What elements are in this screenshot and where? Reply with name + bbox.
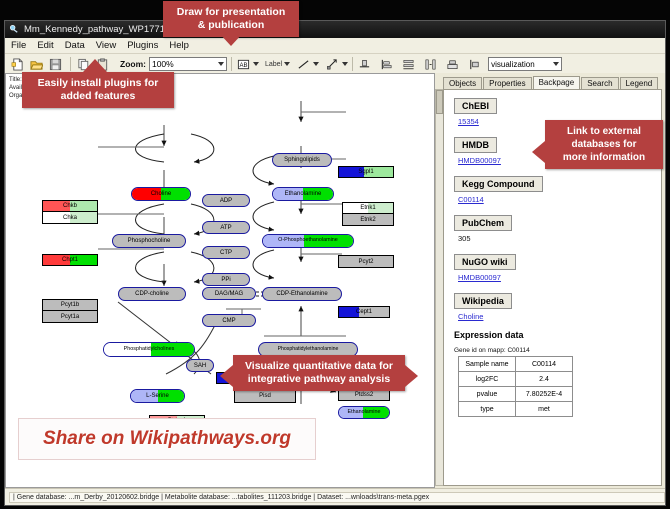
menu-item-edit[interactable]: Edit — [36, 40, 54, 51]
status-bar-text: | Gene database: ...m_Derby_20120602.bri… — [9, 492, 665, 503]
callout-link-line1: Link to external — [553, 125, 655, 138]
node-label: Chpt1 — [62, 257, 78, 263]
status-bar: | Gene database: ...m_Derby_20120602.bri… — [5, 488, 665, 505]
node-etnk2[interactable]: Etnk2 — [342, 214, 394, 226]
node-label: Cept1 — [356, 309, 372, 315]
visualization-value: visualization — [491, 60, 535, 69]
callout-plugins-arrow-icon — [83, 59, 107, 72]
menu-item-data[interactable]: Data — [64, 40, 86, 51]
node-label: DAG/MAG — [215, 291, 243, 297]
node-ethanolamine-right[interactable]: Ethanolamine — [338, 406, 390, 419]
new-file-icon[interactable] — [9, 56, 26, 72]
db-link-wikipedia[interactable]: Choline — [458, 312, 655, 321]
table-row: Sample name C00114 — [459, 357, 573, 372]
menu-item-help[interactable]: Help — [168, 40, 190, 51]
zoom-label: Zoom: — [120, 59, 146, 69]
node-label: Pcyt1b — [61, 302, 79, 308]
tab-properties[interactable]: Properties — [483, 77, 531, 89]
tab-backpage[interactable]: Backpage — [533, 76, 581, 89]
db-value-pubchem: 305 — [458, 234, 655, 243]
callout-draw-line1: Draw for presentation — [171, 6, 291, 19]
db-header-kegg-compound: Kegg Compound — [454, 176, 543, 192]
node-label: CDP-choline — [135, 291, 169, 297]
row-key: pvalue — [459, 387, 516, 402]
table-row: type met — [459, 402, 573, 417]
callout-draw-line2: & publication — [171, 19, 291, 32]
node-label: Phosphocholine — [128, 238, 171, 244]
node-label: CDP-Ethanolamine — [276, 291, 327, 297]
callout-visualize: Visualize quantitative data for integrat… — [233, 355, 405, 391]
tab-search[interactable]: Search — [581, 77, 618, 89]
scrollbar-thumb[interactable] — [436, 90, 443, 114]
node-pcyt1b[interactable]: Pcyt1b — [42, 299, 98, 311]
node-l-serine-left[interactable]: L-Serine — [130, 389, 185, 403]
node-cept1[interactable]: Cept1 — [338, 306, 390, 318]
align-top-icon[interactable] — [357, 57, 372, 72]
distribute-vertical-icon[interactable] — [401, 57, 416, 72]
row-value: 7.80252E-4 — [516, 387, 573, 402]
node-sphingolipids[interactable]: Sphingolipids — [272, 153, 332, 167]
zoom-select[interactable]: 100% — [149, 57, 227, 71]
share-banner-text: Share on Wikipathways.org — [43, 428, 291, 450]
callout-link-line3: more information — [553, 151, 655, 164]
share-banner: Share on Wikipathways.org — [18, 418, 316, 460]
node-chpt1[interactable]: Chpt1 — [42, 254, 98, 266]
row-value: C00114 — [516, 357, 573, 372]
node-chkb[interactable]: Chkb — [42, 200, 98, 212]
menu-item-view[interactable]: View — [95, 40, 117, 51]
menu-bar: File Edit Data View Plugins Help — [5, 38, 665, 54]
callout-draw-arrow-icon — [219, 33, 243, 46]
node-label: Etnk2 — [360, 217, 375, 223]
node-label: Pcyt2 — [358, 259, 373, 265]
db-header-nugo-wiki: NuGO wiki — [454, 254, 516, 270]
db-header-hmdb: HMDB — [454, 137, 497, 153]
node-cdp-choline[interactable]: CDP-choline — [118, 287, 186, 301]
node-label: ATP — [220, 225, 231, 231]
node-label: CTP — [220, 250, 232, 256]
node-phosphatidylcholines[interactable]: Phosphatidylcholines — [103, 342, 195, 357]
row-value: 2.4 — [516, 372, 573, 387]
node-cmp[interactable]: CMP — [202, 314, 256, 327]
toolbar-separator-3 — [352, 57, 353, 71]
node-label: Phosphatidylcholines — [124, 347, 175, 352]
node-pcyt2[interactable]: Pcyt2 — [338, 255, 394, 268]
node-cdp-ethanolamine[interactable]: CDP-Ethanolamine — [262, 287, 342, 301]
node-ctp[interactable]: CTP — [202, 246, 250, 259]
row-key: type — [459, 402, 516, 417]
gene-id-on-mapp: Gene id on mapp: C00114 — [454, 347, 655, 354]
line-tool-icon[interactable] — [296, 57, 311, 72]
screenshot-root: Mm_Kennedy_pathway_WP1771_45176.gpml Fil… — [0, 0, 670, 509]
callout-visualize-line2: integrative pathway analysis — [241, 373, 397, 386]
expression-data-heading: Expression data — [454, 330, 655, 340]
node-sah[interactable]: SAH — [186, 359, 214, 372]
menu-item-file[interactable]: File — [10, 40, 27, 51]
node-label: CMP — [222, 318, 235, 324]
node-phosphocholine[interactable]: Phosphocholine — [112, 234, 186, 248]
table-row: pvalue 7.80252E-4 — [459, 387, 573, 402]
callout-link: Link to external databases for more info… — [545, 120, 663, 169]
side-panel-tabs: Objects Properties Backpage Search Legen… — [443, 75, 663, 89]
callout-link-arrow-icon — [532, 141, 545, 163]
svg-text:AB: AB — [239, 62, 247, 68]
pathvisio-icon — [9, 24, 20, 35]
node-choline[interactable]: Choline — [131, 187, 191, 201]
node-chka[interactable]: Chka — [42, 212, 98, 224]
node-o-phosphoethanolamine[interactable]: O-Phosphoethanolamine — [262, 234, 354, 248]
node-label: L-Serine — [146, 393, 169, 399]
callout-plugins-line2: added features — [30, 90, 166, 103]
open-file-icon[interactable] — [28, 56, 45, 72]
same-width-icon[interactable] — [423, 57, 438, 72]
node-label: Phosphatidylethanolamine — [278, 347, 339, 352]
node-label: Ptdss2 — [355, 392, 373, 398]
text-tool-chevron-icon[interactable] — [253, 62, 259, 66]
node-label: O-Phosphoethanolamine — [278, 238, 338, 243]
db-link-kegg-compound[interactable]: C00114 — [458, 195, 655, 204]
node-label: PPi — [221, 277, 230, 283]
node-label: Pisd — [259, 393, 271, 399]
chevron-down-icon — [218, 62, 224, 66]
node-label: SAH — [194, 363, 206, 369]
node-label: ADP — [220, 198, 232, 204]
window-titlebar: Mm_Kennedy_pathway_WP1771_45176.gpml — [5, 21, 665, 38]
line-tool-chevron-icon[interactable] — [313, 62, 319, 66]
node-label: Sphingolipids — [284, 157, 320, 163]
table-row: log2FC 2.4 — [459, 372, 573, 387]
toolbar-separator-2 — [231, 57, 232, 71]
visualization-chevron-icon — [553, 62, 559, 66]
row-key: log2FC — [459, 372, 516, 387]
interaction-chevron-icon[interactable] — [342, 62, 348, 66]
menu-item-plugins[interactable]: Plugins — [126, 40, 159, 51]
toolbar-separator-1 — [70, 57, 71, 71]
stack-icon[interactable] — [445, 57, 460, 72]
callout-draw: Draw for presentation & publication — [163, 1, 299, 37]
node-label: Choline — [151, 191, 171, 197]
callout-plugins: Easily install plugins for added feature… — [22, 72, 174, 108]
visualization-select[interactable]: visualization — [488, 57, 562, 71]
save-file-icon[interactable] — [47, 56, 64, 72]
group-icon[interactable] — [467, 57, 482, 72]
row-value: met — [516, 402, 573, 417]
node-sgpl1[interactable]: Sgpl1 — [338, 166, 394, 178]
db-link-nugo-wiki[interactable]: HMDB00097 — [458, 273, 655, 282]
expression-data-table: Sample name C00114 log2FC 2.4 pvalue 7.8… — [458, 356, 573, 417]
row-key: Sample name — [459, 357, 516, 372]
node-adp[interactable]: ADP — [202, 194, 250, 207]
interaction-tool-icon[interactable] — [325, 57, 340, 72]
node-etnk1[interactable]: Etnk1 — [342, 202, 394, 214]
node-label: Etnk1 — [360, 205, 375, 211]
node-pcyt1a[interactable]: Pcyt1a — [42, 311, 98, 323]
node-label: Pcyt1a — [61, 314, 79, 320]
callout-visualize-arrow-right-icon — [405, 365, 418, 387]
node-ppi[interactable]: PPi — [202, 273, 250, 286]
tab-legend[interactable]: Legend — [620, 77, 659, 89]
node-label: Sgpl1 — [358, 169, 373, 175]
text-tool-icon[interactable]: AB — [236, 57, 251, 72]
node-label: Chka — [63, 215, 77, 221]
label-tool-label[interactable]: Label — [265, 61, 282, 68]
zoom-value: 100% — [152, 59, 174, 69]
node-label: Chkb — [63, 203, 77, 209]
node-pisd[interactable]: Pisd — [234, 389, 296, 403]
node-dag-mag[interactable]: DAG/MAG — [202, 287, 256, 300]
callout-visualize-line1: Visualize quantitative data for — [241, 360, 397, 373]
callout-visualize-arrow-left-icon — [220, 365, 233, 387]
node-ethanolamine[interactable]: Ethanolamine — [272, 187, 334, 201]
tab-objects[interactable]: Objects — [443, 77, 482, 89]
node-atp[interactable]: ATP — [202, 221, 250, 234]
db-header-pubchem: PubChem — [454, 215, 512, 231]
node-label: Ethanolamine — [285, 191, 322, 197]
align-left-icon[interactable] — [379, 57, 394, 72]
callout-link-line2: databases for — [553, 138, 655, 151]
callout-plugins-line1: Easily install plugins for — [30, 77, 166, 90]
node-label: Ethanolamine — [348, 410, 381, 415]
db-header-wikipedia: Wikipedia — [454, 293, 512, 309]
db-header-chebi: ChEBI — [454, 98, 497, 114]
label-tool-chevron-icon[interactable] — [284, 62, 290, 66]
